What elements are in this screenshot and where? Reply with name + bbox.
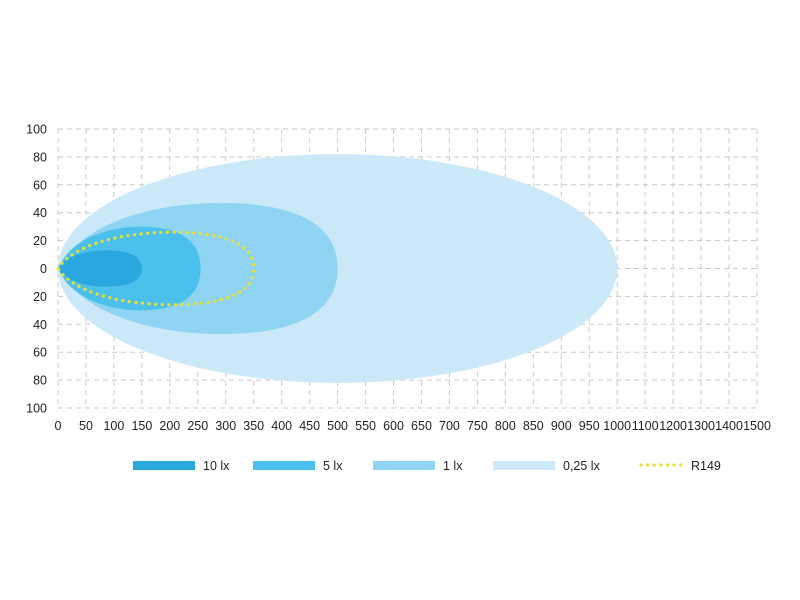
- x-tick-label: 1400: [715, 419, 743, 433]
- x-tick-label: 850: [523, 419, 544, 433]
- x-tick-label: 350: [243, 419, 264, 433]
- x-axis-tick-labels: 0501001502002503003504004505005506006507…: [55, 419, 771, 433]
- x-tick-label: 0: [55, 419, 62, 433]
- x-tick-label: 100: [103, 419, 124, 433]
- x-tick-label: 750: [467, 419, 488, 433]
- legend-item-0-25-lx-swatch: [493, 461, 555, 470]
- x-tick-label: 300: [215, 419, 236, 433]
- y-tick-label: 40: [33, 318, 47, 332]
- legend-item-r149-label: R149: [691, 459, 721, 473]
- y-tick-label: 80: [33, 150, 47, 164]
- y-tick-label: 100: [26, 123, 47, 137]
- x-tick-label: 950: [579, 419, 600, 433]
- legend-item-1-lx-label: 1 lx: [443, 459, 463, 473]
- x-tick-label: 150: [131, 419, 152, 433]
- legend-item-10-lx-swatch: [133, 461, 195, 470]
- x-tick-label: 1200: [659, 419, 687, 433]
- x-tick-label: 250: [187, 419, 208, 433]
- x-tick-label: 200: [159, 419, 180, 433]
- x-tick-label: 700: [439, 419, 460, 433]
- y-tick-label: 20: [33, 290, 47, 304]
- x-tick-label: 500: [327, 419, 348, 433]
- y-tick-label: 60: [33, 346, 47, 360]
- x-tick-label: 550: [355, 419, 376, 433]
- y-tick-label: 100: [26, 402, 47, 416]
- beam-pattern-plot: 0501001502002503003504004505005506006507…: [0, 0, 800, 600]
- legend-item-0-25-lx-label: 0,25 lx: [563, 459, 601, 473]
- y-tick-label: 20: [33, 234, 47, 248]
- y-tick-label: 0: [40, 262, 47, 276]
- legend-item-5-lx-swatch: [253, 461, 315, 470]
- x-tick-label: 50: [79, 419, 93, 433]
- y-tick-label: 40: [33, 206, 47, 220]
- y-tick-label: 80: [33, 374, 47, 388]
- legend-item-10-lx-label: 10 lx: [203, 459, 230, 473]
- legend-item-1-lx-swatch: [373, 461, 435, 470]
- x-tick-label: 800: [495, 419, 516, 433]
- x-tick-label: 1500: [743, 419, 771, 433]
- x-tick-label: 650: [411, 419, 432, 433]
- x-tick-label: 1000: [603, 419, 631, 433]
- light-distribution-chart: 0501001502002503003504004505005506006507…: [0, 0, 800, 600]
- legend-item-5-lx-label: 5 lx: [323, 459, 343, 473]
- x-tick-label: 1100: [632, 419, 659, 433]
- x-tick-label: 600: [383, 419, 404, 433]
- x-tick-label: 450: [299, 419, 320, 433]
- x-tick-label: 1300: [687, 419, 715, 433]
- beam-zone-group: [58, 154, 617, 383]
- y-tick-label: 60: [33, 178, 47, 192]
- x-tick-label: 400: [271, 419, 292, 433]
- x-tick-label: 900: [551, 419, 572, 433]
